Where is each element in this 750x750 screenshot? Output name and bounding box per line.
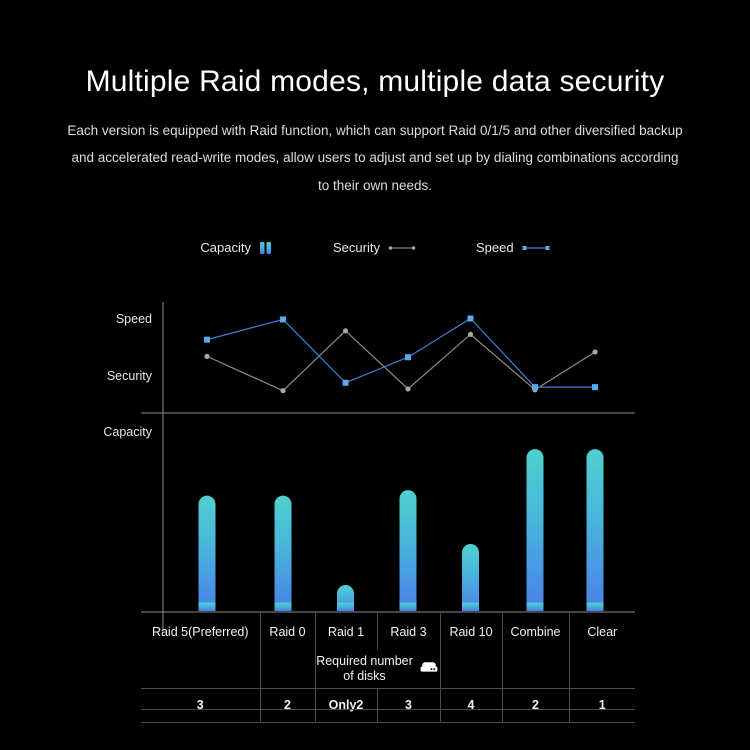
capacity-bar [462, 544, 479, 611]
table-header-cell: Raid 10 [440, 612, 502, 650]
speed-line-series [204, 316, 598, 391]
security-marker [468, 332, 473, 337]
table-note-cell [569, 650, 635, 688]
capacity-bar-foot [400, 603, 417, 612]
raid-spec-table: Raid 5(Preferred)Raid 0Raid 1Raid 3Raid … [141, 612, 635, 723]
table-header-cell: Combine [502, 612, 569, 650]
table-value-cell: 1 [569, 688, 635, 722]
table-bottom-rule [141, 709, 635, 710]
table-note-cell [141, 650, 260, 688]
capacity-bar-foot [462, 603, 479, 612]
table-header-cell: Raid 5(Preferred) [141, 612, 260, 650]
table-header-cell: Raid 0 [260, 612, 315, 650]
speed-marker [532, 384, 538, 390]
required-disks-label: Required number of disks [316, 654, 413, 684]
capacity-bar [400, 490, 417, 611]
capacity-bar-foot [527, 603, 544, 612]
capacity-bar [275, 496, 292, 611]
security-marker [343, 328, 348, 333]
speed-marker [204, 337, 210, 343]
table-value-cell: Only2 [315, 688, 377, 722]
table-note-cell: Required number of disks [315, 650, 440, 688]
table-note-cell [260, 650, 315, 688]
capacity-bar-foot [337, 603, 354, 612]
speed-polyline [207, 319, 595, 388]
speed-marker [592, 384, 598, 390]
table-value-cell: 2 [502, 688, 569, 722]
speed-marker [280, 316, 286, 322]
table-row-values: 32Only23421 [141, 688, 635, 722]
security-line-series [204, 328, 597, 393]
table-value-cell: 3 [377, 688, 440, 722]
table-header-cell: Clear [569, 612, 635, 650]
table-value-cell: 4 [440, 688, 502, 722]
table-header-cell: Raid 3 [377, 612, 440, 650]
table-value-cell: 3 [141, 688, 260, 722]
capacity-bar [199, 496, 216, 611]
table-row-headers: Raid 5(Preferred)Raid 0Raid 1Raid 3Raid … [141, 612, 635, 650]
security-marker [204, 354, 209, 359]
table-value-cell: 2 [260, 688, 315, 722]
capacity-bar-foot [275, 603, 292, 612]
security-marker [592, 349, 597, 354]
capacity-bar-foot [587, 603, 604, 612]
capacity-bar [527, 449, 544, 611]
table-note-cell [440, 650, 502, 688]
table-note-cell [502, 650, 569, 688]
capacity-bar [587, 449, 604, 611]
security-polyline [207, 331, 595, 391]
security-marker [405, 386, 410, 391]
speed-marker [468, 316, 474, 322]
speed-marker [405, 354, 411, 360]
page-root: Multiple Raid modes, multiple data secur… [0, 0, 750, 750]
security-marker [280, 388, 285, 393]
speed-marker [343, 380, 349, 386]
capacity-bar-foot [199, 603, 216, 612]
table-row-note: Required number of disks [141, 650, 635, 688]
hdd-icon [419, 660, 439, 678]
capacity-bars [199, 449, 604, 611]
table-header-cell: Raid 1 [315, 612, 377, 650]
